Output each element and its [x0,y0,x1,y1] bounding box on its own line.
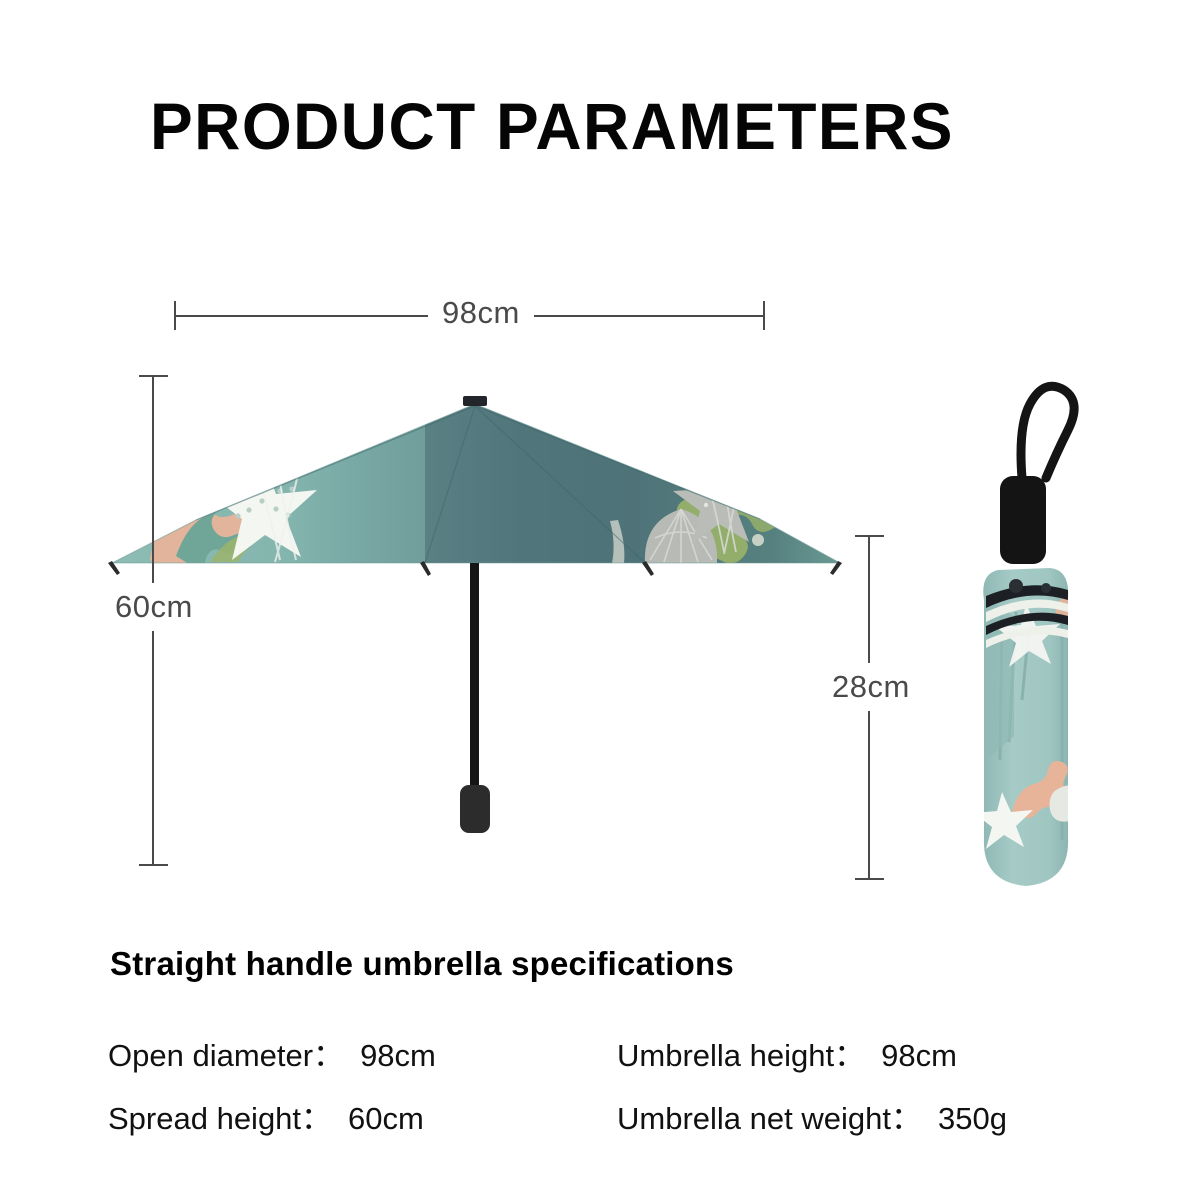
spec-umbrella-height: Umbrella height：98cm [617,1030,957,1075]
dim-width-tick-right [763,301,765,330]
dim-height-label: 60cm [113,583,195,631]
spec-net-weight-label: Umbrella net weight： [617,1101,922,1136]
spec-spread-height-label: Spread height： [108,1101,332,1136]
dim-width-label: 98cm [428,295,534,331]
folded-umbrella-handle [1000,476,1046,564]
spec-open-diameter-value: 98cm [360,1038,436,1073]
spec-spread-height-value: 60cm [348,1101,424,1136]
product-parameters-page: PRODUCT PARAMETERS [0,0,1200,1200]
spec-umbrella-height-value: 98cm [881,1038,957,1073]
dim-height-tick-bottom [139,864,168,866]
spec-open-diameter-label: Open diameter： [108,1038,344,1073]
spec-open-diameter: Open diameter：98cm [108,1030,436,1075]
specifications-heading: Straight handle umbrella specifications [110,945,734,983]
spec-umbrella-height-label: Umbrella height： [617,1038,865,1073]
spec-spread-height: Spread height：60cm [108,1093,424,1138]
dim-height-tick-top [139,375,168,377]
folded-umbrella-illustration [0,0,1200,920]
dim-folded-label: 28cm [830,663,912,711]
dim-width-tick-left [174,301,176,330]
dim-folded-tick-bottom [855,878,884,880]
dimension-diagram: 98cm 60cm 28cm [0,0,1200,920]
spec-net-weight: Umbrella net weight：350g [617,1093,1007,1138]
dim-folded-tick-top [855,535,884,537]
spec-net-weight-value: 350g [938,1101,1007,1136]
wrist-strap [1021,386,1074,478]
